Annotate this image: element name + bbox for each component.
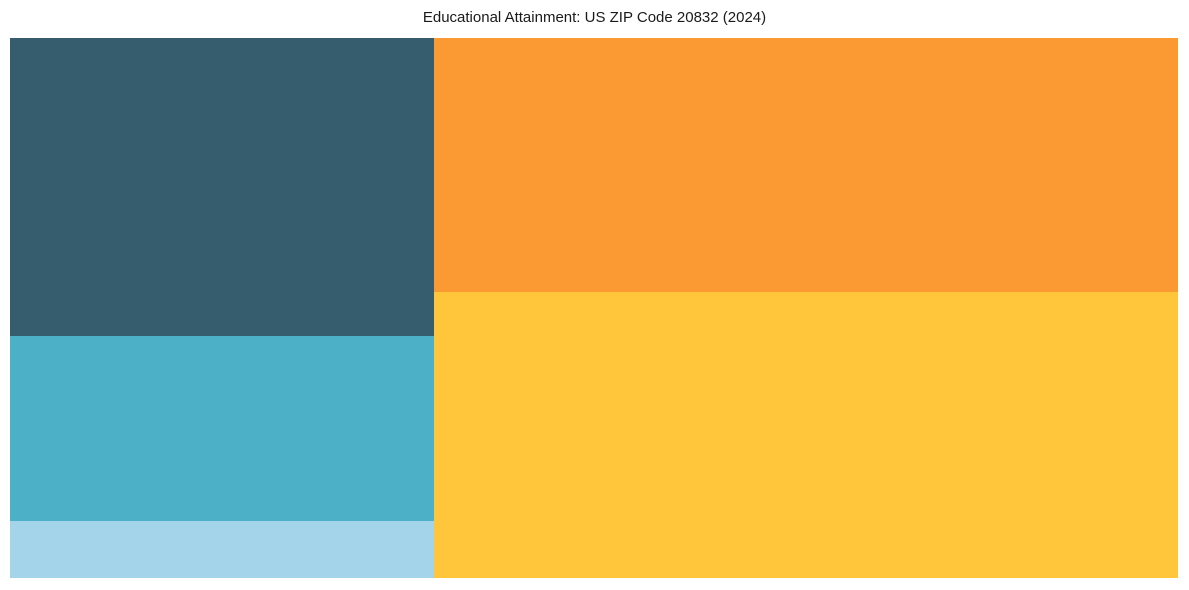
treemap-tile-some-college-or-associate[interactable] <box>10 336 434 521</box>
treemap-tile-bachelors-degree[interactable] <box>434 38 1178 292</box>
treemap-column-left <box>10 38 434 578</box>
chart-title: Educational Attainment: US ZIP Code 2083… <box>0 0 1189 36</box>
treemap-column-right <box>434 38 1178 578</box>
treemap-tile-high-school-graduate[interactable] <box>434 292 1178 578</box>
treemap-tile-graduate-professional-degree[interactable] <box>10 38 434 336</box>
treemap-figure: Educational Attainment: US ZIP Code 2083… <box>0 0 1189 590</box>
treemap-tile-less-than-high-school[interactable] <box>10 521 434 578</box>
treemap-plot-area <box>10 38 1178 578</box>
